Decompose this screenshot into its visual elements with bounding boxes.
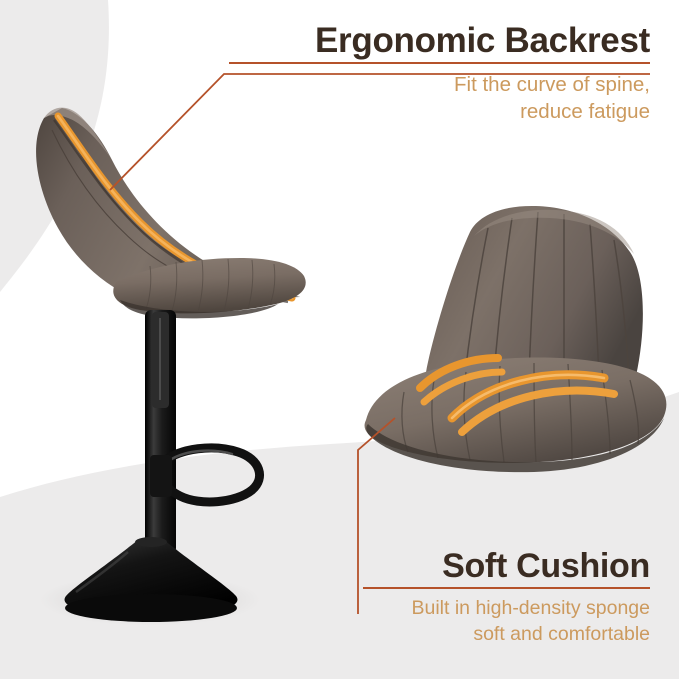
callout-headline: Ergonomic Backrest bbox=[224, 22, 650, 59]
callout-subline-2: soft and comfortable bbox=[358, 622, 650, 648]
callout-subline-1: Built in high-density sponge bbox=[358, 596, 650, 622]
infographic-canvas: Ergonomic Backrest Fit the curve of spin… bbox=[0, 0, 679, 679]
callout-subline-2: reduce fatigue bbox=[224, 98, 650, 125]
callout-ergonomic-backrest: Ergonomic Backrest Fit the curve of spin… bbox=[224, 22, 650, 126]
callout-soft-cushion: Soft Cushion Built in high-density spong… bbox=[358, 548, 650, 648]
callout-headline: Soft Cushion bbox=[358, 548, 650, 584]
callout-divider-rule bbox=[229, 62, 650, 64]
callout-subline-1: Fit the curve of spine, bbox=[224, 71, 650, 98]
callout-divider-rule bbox=[363, 587, 650, 589]
